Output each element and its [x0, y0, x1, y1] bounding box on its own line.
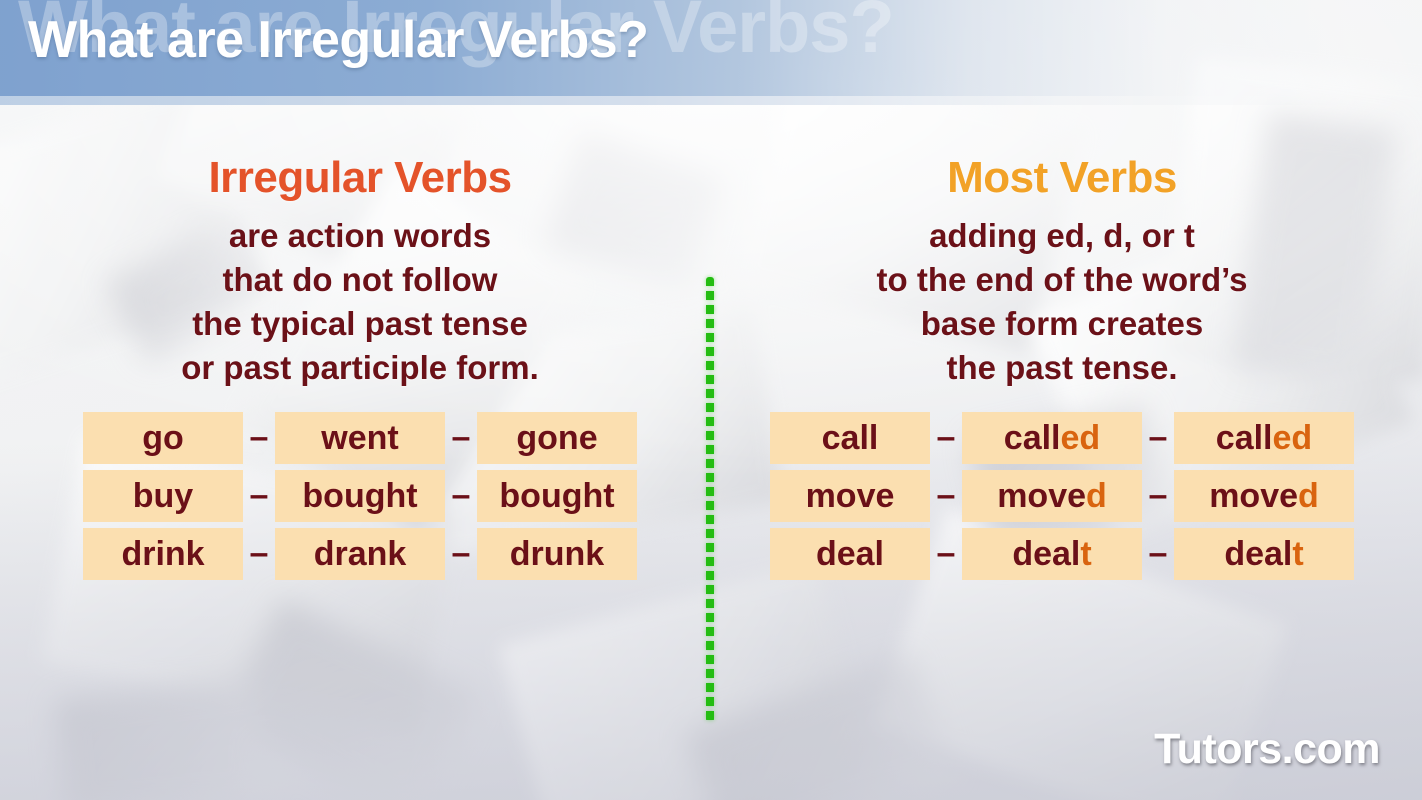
column-divider [706, 277, 714, 722]
verb-stem: move [997, 470, 1086, 522]
verb-past-participle: dealt [1174, 528, 1354, 580]
description-most-verbs: adding ed, d, or t to the end of the wor… [742, 214, 1382, 390]
verb-base-form: deal [770, 528, 930, 580]
verb-past-participle: moved [1174, 470, 1354, 522]
verb-base-form: go [83, 412, 243, 464]
verb-stem: bought [499, 470, 614, 522]
description-line: adding ed, d, or t [742, 214, 1382, 258]
description-line: base form creates [742, 302, 1382, 346]
verb-past-tense: drank [275, 528, 445, 580]
description-line: that do not follow [40, 258, 680, 302]
table-row: call – called – called [742, 412, 1382, 464]
column-most-verbs: Most Verbs adding ed, d, or t to the end… [742, 105, 1382, 586]
table-row: buy – bought – bought [40, 470, 680, 522]
separator-dash: – [930, 528, 962, 580]
verb-base-form: call [770, 412, 930, 464]
verb-stem: went [321, 412, 398, 464]
verb-stem: call [1004, 412, 1061, 464]
verb-past-participle: drunk [477, 528, 637, 580]
verb-past-participle: gone [477, 412, 637, 464]
description-line: to the end of the word’s [742, 258, 1382, 302]
separator-dash: – [1142, 470, 1174, 522]
separator-dash: – [445, 470, 477, 522]
comparison-columns: Irregular Verbs are action words that do… [0, 105, 1422, 665]
verb-stem: drank [314, 528, 407, 580]
verb-past-participle: bought [477, 470, 637, 522]
verb-base-form: buy [83, 470, 243, 522]
description-irregular-verbs: are action words that do not follow the … [40, 214, 680, 390]
watermark-logo: Tutors.com [1154, 725, 1380, 774]
separator-dash: – [930, 470, 962, 522]
table-row: move – moved – moved [742, 470, 1382, 522]
separator-dash: – [243, 412, 275, 464]
verb-base-form: drink [83, 528, 243, 580]
verb-suffix: t [1080, 528, 1091, 580]
verb-stem: deal [1012, 528, 1080, 580]
verb-stem: move [1209, 470, 1298, 522]
verb-suffix: ed [1061, 412, 1101, 464]
separator-dash: – [930, 412, 962, 464]
table-row: deal – dealt – dealt [742, 528, 1382, 580]
heading-irregular-verbs: Irregular Verbs [40, 155, 680, 201]
verb-stem: drunk [510, 528, 604, 580]
description-line: the typical past tense [40, 302, 680, 346]
verb-past-participle: called [1174, 412, 1354, 464]
description-line: the past tense. [742, 346, 1382, 390]
verb-suffix: ed [1273, 412, 1313, 464]
verb-stem: call [1216, 412, 1273, 464]
separator-dash: – [1142, 412, 1174, 464]
page-title: What are Irregular Verbs? [28, 10, 648, 70]
verb-stem: bought [302, 470, 417, 522]
verb-suffix: d [1086, 470, 1107, 522]
verb-table-regular: call – called – called move – moved – mo… [742, 412, 1382, 580]
separator-dash: – [445, 412, 477, 464]
separator-dash: – [445, 528, 477, 580]
heading-most-verbs: Most Verbs [742, 155, 1382, 201]
verb-past-tense: moved [962, 470, 1142, 522]
verb-past-tense: called [962, 412, 1142, 464]
verb-suffix: t [1292, 528, 1303, 580]
separator-dash: – [243, 528, 275, 580]
verb-stem: gone [516, 412, 597, 464]
verb-suffix: d [1298, 470, 1319, 522]
description-line: or past participle form. [40, 346, 680, 390]
separator-dash: – [1142, 528, 1174, 580]
header-underline [0, 96, 1422, 105]
description-line: are action words [40, 214, 680, 258]
verb-table-irregular: go – went – gone buy – bought – bought d… [40, 412, 680, 580]
table-row: go – went – gone [40, 412, 680, 464]
verb-base-form: move [770, 470, 930, 522]
verb-past-tense: went [275, 412, 445, 464]
verb-past-tense: bought [275, 470, 445, 522]
column-irregular-verbs: Irregular Verbs are action words that do… [40, 105, 680, 586]
verb-stem: deal [1224, 528, 1292, 580]
separator-dash: – [243, 470, 275, 522]
table-row: drink – drank – drunk [40, 528, 680, 580]
slide: What are Irregular Verbs? What are Irreg… [0, 0, 1422, 800]
verb-past-tense: dealt [962, 528, 1142, 580]
